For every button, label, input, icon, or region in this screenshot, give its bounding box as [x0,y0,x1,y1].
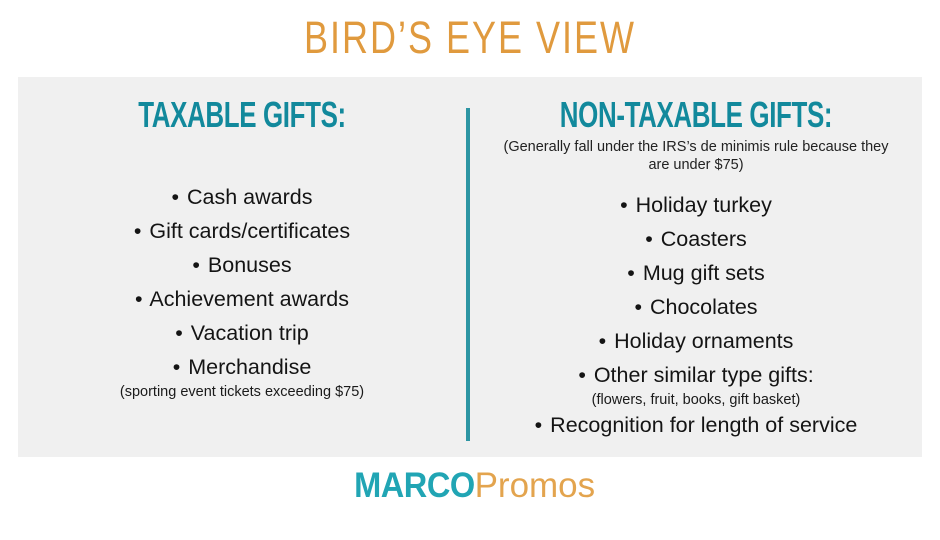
list-item-label: Bonuses [208,253,292,277]
list-item-label: Achievement awards [149,287,349,311]
list-item: • Coasters [470,223,922,257]
non-taxable-gifts-heading: NON-TAXABLE GIFTS: [533,97,858,133]
taxable-gifts-heading: TAXABLE GIFTS: [81,97,404,133]
bullet-icon: • [645,227,653,251]
list-item: • Gift cards/certificates [18,215,466,249]
bullet-icon: • [599,329,607,353]
logo-secondary-text: Promos [475,468,596,503]
bullet-icon: • [578,363,586,387]
bullet-icon: • [620,193,628,217]
list-item-label: Recognition for length of service [550,413,857,437]
bullet-icon: • [535,413,543,437]
list-item-label: Gift cards/certificates [149,219,350,243]
list-item-label: Chocolates [650,295,758,319]
infographic-canvas: BIRD’S EYE VIEW TAXABLE GIFTS: • Cash aw… [0,0,940,540]
taxable-gifts-list: • Cash awards • Gift cards/certificates … [18,181,466,401]
list-item-label: Merchandise [188,355,311,379]
list-item-label: Other similar type gifts: [594,363,814,387]
bullet-icon: • [627,261,635,285]
list-item-note: (sporting event tickets exceeding $75) [18,383,466,401]
list-item: • Recognition for length of service [470,409,922,443]
bullet-icon: • [172,185,180,209]
list-item: • Other similar type gifts: (flowers, fr… [470,359,922,409]
list-item: • Chocolates [470,291,922,325]
list-item: • Merchandise (sporting event tickets ex… [18,351,466,401]
list-item: • Holiday ornaments [470,325,922,359]
non-taxable-gifts-column: NON-TAXABLE GIFTS: (Generally fall under… [470,77,922,457]
list-item-note: (flowers, fruit, books, gift basket) [470,391,922,409]
list-item: • Achievement awards [18,283,466,317]
bullet-icon: • [175,321,183,345]
list-item-label: Cash awards [187,185,312,209]
bullet-icon: • [634,295,642,319]
list-item-label: Coasters [661,227,747,251]
bullet-icon: • [135,287,143,311]
list-item: • Mug gift sets [470,257,922,291]
brand-logo: MARCOPromos [0,468,940,503]
list-item-label: Mug gift sets [643,261,765,285]
list-item-label: Holiday turkey [636,193,772,217]
bullet-icon: • [173,355,181,379]
list-item-label: Holiday ornaments [614,329,793,353]
list-item: • Cash awards [18,181,466,215]
bullet-icon: • [134,219,142,243]
non-taxable-gifts-subtitle: (Generally fall under the IRS’s de minim… [496,139,896,174]
non-taxable-gifts-list: • Holiday turkey • Coasters • Mug gift s… [470,189,922,443]
list-item: • Bonuses [18,249,466,283]
page-title: BIRD’S EYE VIEW [94,14,846,61]
list-item: • Holiday turkey [470,189,922,223]
list-item-label: Vacation trip [191,321,309,345]
list-item: • Vacation trip [18,317,466,351]
taxable-gifts-column: TAXABLE GIFTS: • Cash awards • Gift card… [18,77,466,457]
bullet-icon: • [192,253,200,277]
logo-primary-text: MARCO [354,468,475,503]
